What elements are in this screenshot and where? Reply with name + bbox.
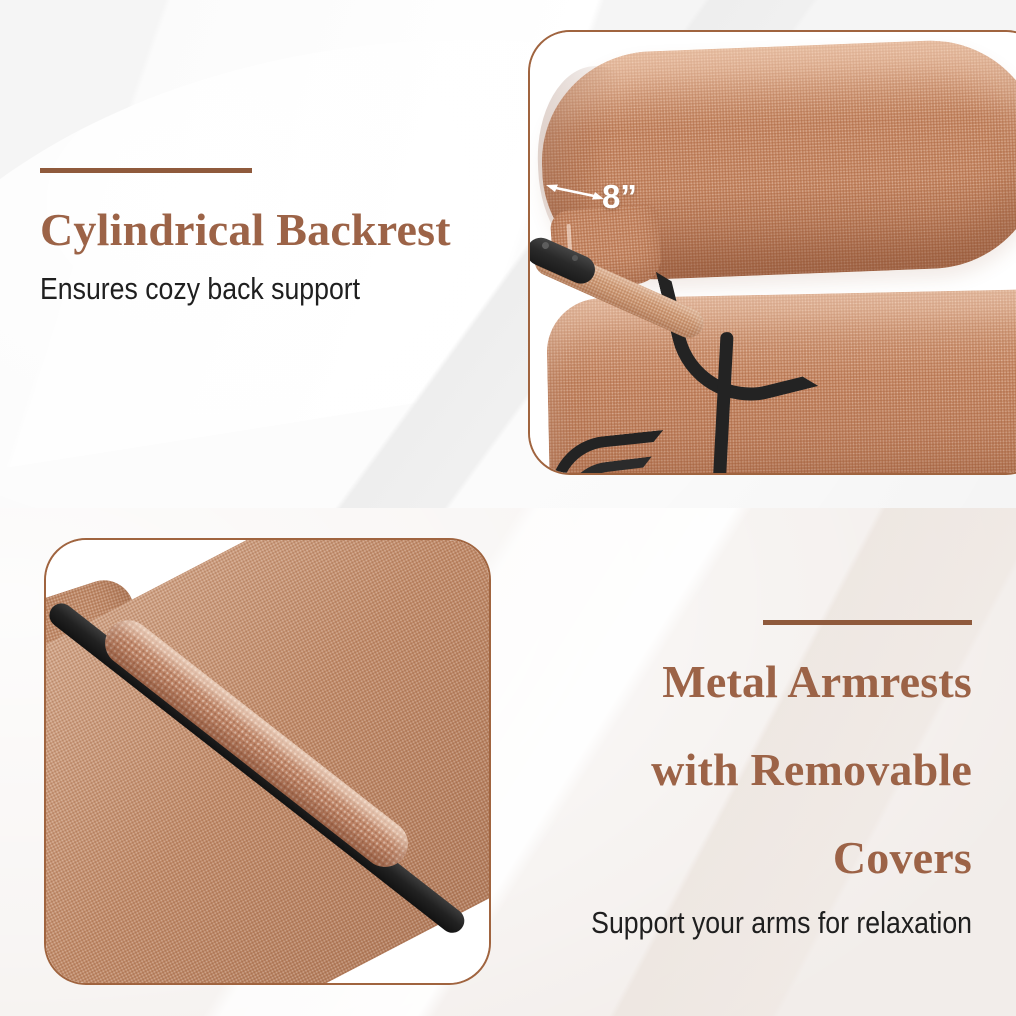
photo-panel-backrest [528, 30, 1016, 475]
feature-text-metal-armrests: Metal Armrests with Removable Covers Sup… [502, 620, 972, 943]
feature-subtitle-backrest: Ensures cozy back support [40, 269, 436, 309]
dimension-label-width: 8” [602, 178, 637, 216]
accent-rule-top [40, 168, 252, 173]
feature-heading-armrests-line2: with Removable [502, 739, 972, 801]
feature-text-cylindrical-backrest: Cylindrical Backrest Ensures cozy back s… [40, 168, 500, 309]
accent-rule-bottom [763, 620, 972, 625]
feature-heading-armrests-line3: Covers [502, 827, 972, 889]
feature-subtitle-armrests: Support your arms for relaxation [568, 903, 972, 943]
armrest-cover-photo [46, 540, 489, 983]
feature-heading-backrest: Cylindrical Backrest [40, 201, 500, 259]
backrest-photo [530, 32, 1016, 473]
infographic-stage: Cylindrical Backrest Ensures cozy back s… [0, 0, 1016, 1016]
double-arrow-horizontal-icon [546, 184, 604, 200]
photo-panel-armrest [44, 538, 491, 985]
feature-heading-armrests-line1: Metal Armrests [502, 651, 972, 713]
